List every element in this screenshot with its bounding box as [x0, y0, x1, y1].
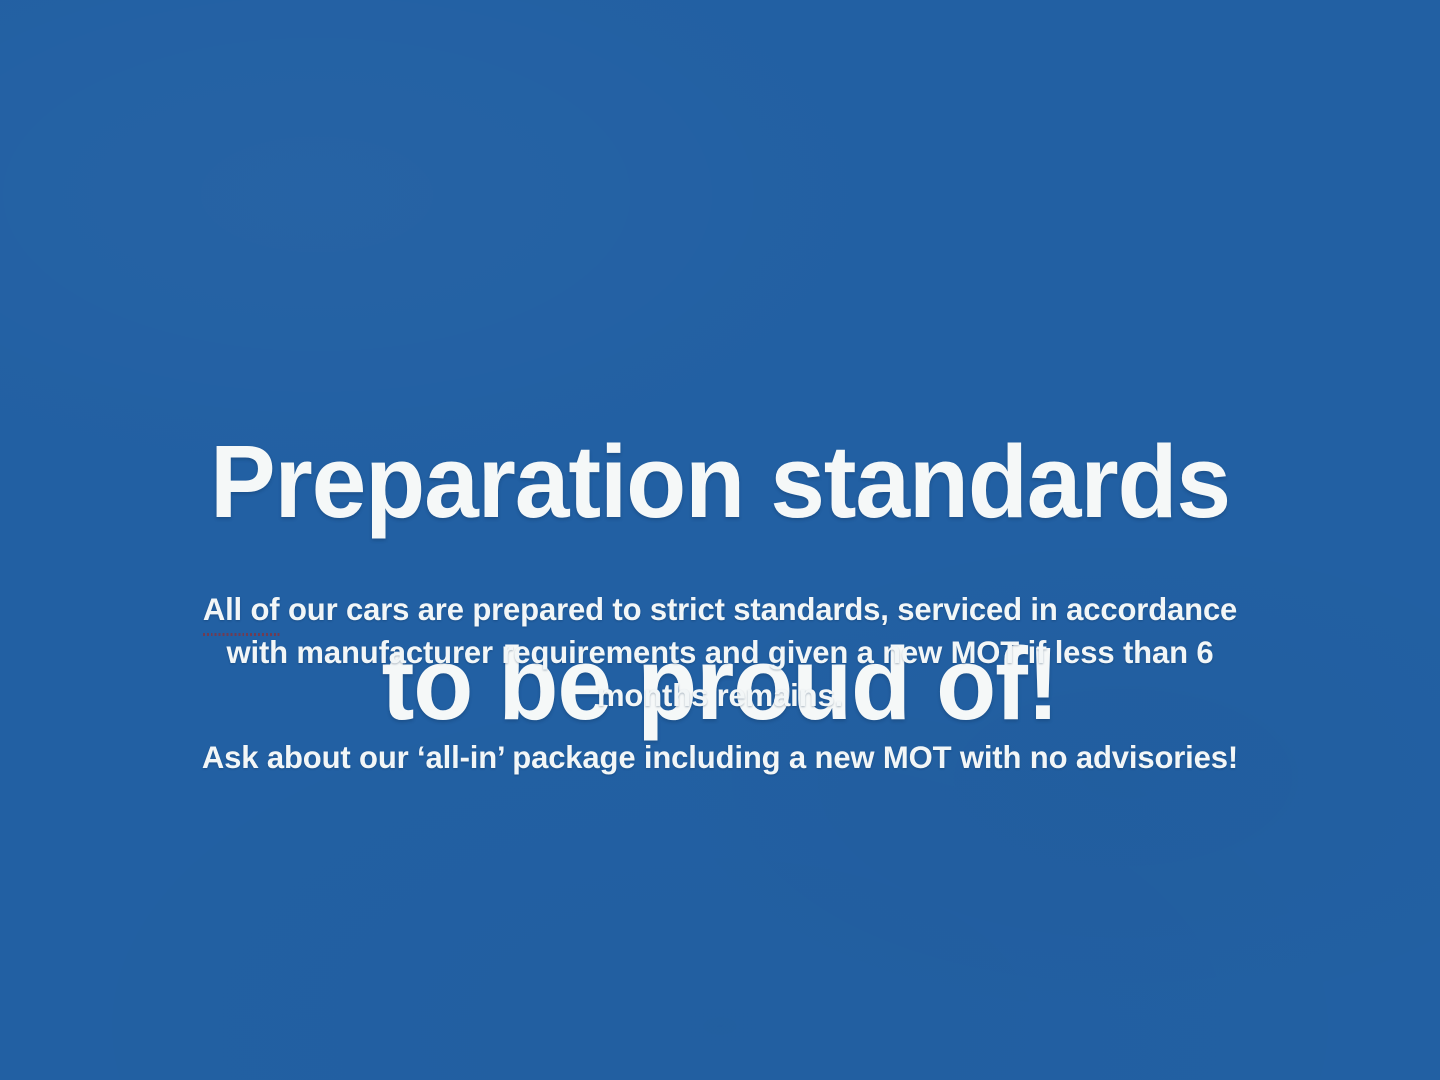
body-line-2: with manufacturer requirements and given… — [80, 631, 1361, 674]
body-line-1-rest: our cars are prepared to strict standard… — [279, 591, 1237, 627]
body-paragraph: All of our cars are prepared to strict s… — [80, 588, 1361, 718]
body-line-3: months remains. — [80, 674, 1361, 717]
body-line-1: All of our cars are prepared to strict s… — [80, 588, 1361, 631]
slide-canvas: Preparation standards to be proud of! Al… — [0, 0, 1440, 1080]
misspelled-text: All of — [203, 588, 280, 631]
cta-text: Ask about our ‘all-in’ package including… — [80, 736, 1361, 779]
headline-line-1: Preparation standards — [99, 432, 1341, 533]
